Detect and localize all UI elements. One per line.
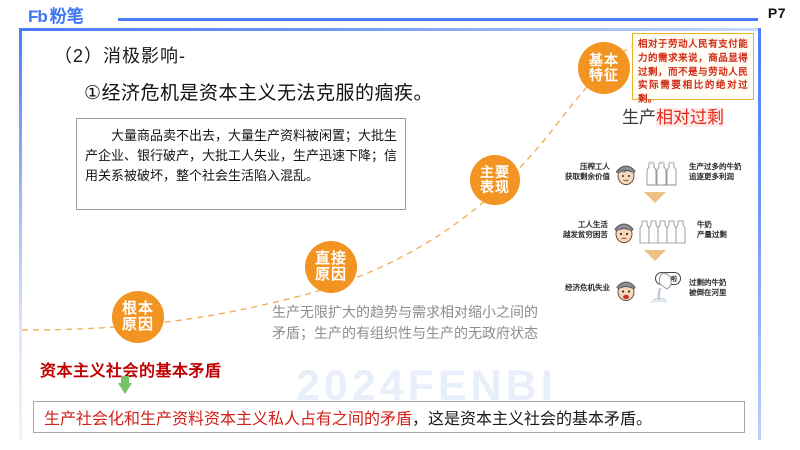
green-down-arrow-icon (118, 383, 132, 394)
bubble-direct-cause-line1: 直接 (315, 251, 347, 267)
bubble-direct-cause-line2: 原因 (315, 267, 347, 283)
illustration-diagram: 压榨工人 获取剩余价值 (548, 148, 753, 328)
bubble-main-manifestation-line1: 主要 (480, 165, 510, 180)
slide-canvas: 2024FENBI Fb 粉笔 P7 （2）消极影响- ①经济危机是资本主义无法… (0, 0, 800, 450)
conclusion-dark-text: ，这是资本主义社会的基本矛盾。 (412, 405, 652, 429)
conclusion-red-text: 生产社会化和生产资料资本主义私人占有之间的矛盾 (44, 405, 412, 429)
grey-explanation: 生产无限扩大的趋势与需求相对缩小之间的 矛盾；生产的有组织性与生产的无政府状态 (272, 302, 606, 344)
crying-worker-face-icon: 失业啦 (613, 274, 639, 302)
bubble-root-cause-line2: 原因 (122, 317, 154, 333)
fenbi-logo: Fb 粉笔 (28, 8, 84, 25)
over-production-highlight: 相对过剩 (656, 108, 724, 127)
illustration-row: 工人生活 越发贫穷困苦 (548, 210, 753, 250)
illustration-left-caption: 经济危机失业 (548, 283, 613, 293)
milk-bottles-icon (639, 155, 685, 189)
conclusion-box: 生产社会化和生产资料资本主义私人占有之间的矛盾，这是资本主义社会的基本矛盾。 (33, 401, 745, 433)
illustration-left-caption: 工人生活 越发贫穷困苦 (548, 220, 611, 240)
bubble-main-manifestation[interactable]: 主要 表现 (470, 155, 520, 205)
down-chevron-icon (644, 250, 666, 261)
bubble-basic-feature-line2: 特征 (589, 68, 619, 83)
illustration-right-caption: 过剩的牛奶 被倒在河里 (685, 278, 747, 298)
pouring-milk-icon (639, 271, 685, 305)
bubble-basic-feature[interactable]: 基本 特征 (578, 42, 630, 94)
worker-face-icon (613, 158, 639, 186)
over-production-label: 生产相对过剩 (622, 103, 724, 128)
item-heading: ①经济危机是资本主义无法克服的痼疾。 (84, 78, 433, 105)
red-subtitle: 资本主义社会的基本矛盾 (40, 357, 222, 381)
frame-right-border (758, 28, 761, 440)
fenbi-logo-text: 粉笔 (50, 8, 84, 25)
yellow-callout-box: 相对于劳动人民有支付能力的需求来说，商品显得过剩，而不是与劳动人民实际需要相比的… (632, 33, 754, 100)
frame-left-border (19, 28, 22, 440)
bubble-direct-cause[interactable]: 直接 原因 (305, 241, 357, 293)
description-text: 大量商品卖不出去，大量生产资料被闲置；大批生产企业、银行破产，大批工人失业，生产… (77, 119, 405, 186)
bubble-main-manifestation-line2: 表现 (480, 180, 510, 195)
frame-top-border (19, 28, 761, 31)
sad-worker-face-icon (611, 216, 637, 244)
section-heading: （2）消极影响- (54, 42, 186, 68)
bubble-basic-feature-line1: 基本 (589, 53, 619, 68)
over-production-prefix: 生产 (622, 108, 656, 127)
illustration-left-caption: 压榨工人 获取剩余价值 (548, 162, 613, 182)
page-number: P7 (768, 5, 786, 21)
yellow-callout-text: 相对于劳动人民有支付能力的需求来说，商品显得过剩，而不是与劳动人民实际需要相比的… (638, 38, 748, 107)
header-rule (118, 18, 758, 21)
description-box: 大量商品卖不出去，大量生产资料被闲置；大批生产企业、银行破产，大批工人失业，生产… (76, 118, 406, 210)
bubble-root-cause[interactable]: 根本 原因 (112, 291, 164, 343)
grey-explanation-line-1: 生产无限扩大的趋势与需求相对缩小之间的 (272, 302, 606, 323)
illustration-right-caption: 牛奶 产量过剩 (693, 220, 753, 240)
many-milk-bottles-icon (637, 213, 693, 247)
bubble-root-cause-line1: 根本 (122, 301, 154, 317)
illustration-right-caption: 生产过多的牛奶 追逐更多利润 (685, 162, 747, 182)
fenbi-logo-mark-icon: Fb (28, 8, 47, 25)
illustration-row: 压榨工人 获取剩余价值 (548, 152, 753, 192)
grey-explanation-line-2: 矛盾；生产的有组织性与生产的无政府状态 (272, 323, 606, 344)
down-chevron-icon (644, 192, 666, 203)
